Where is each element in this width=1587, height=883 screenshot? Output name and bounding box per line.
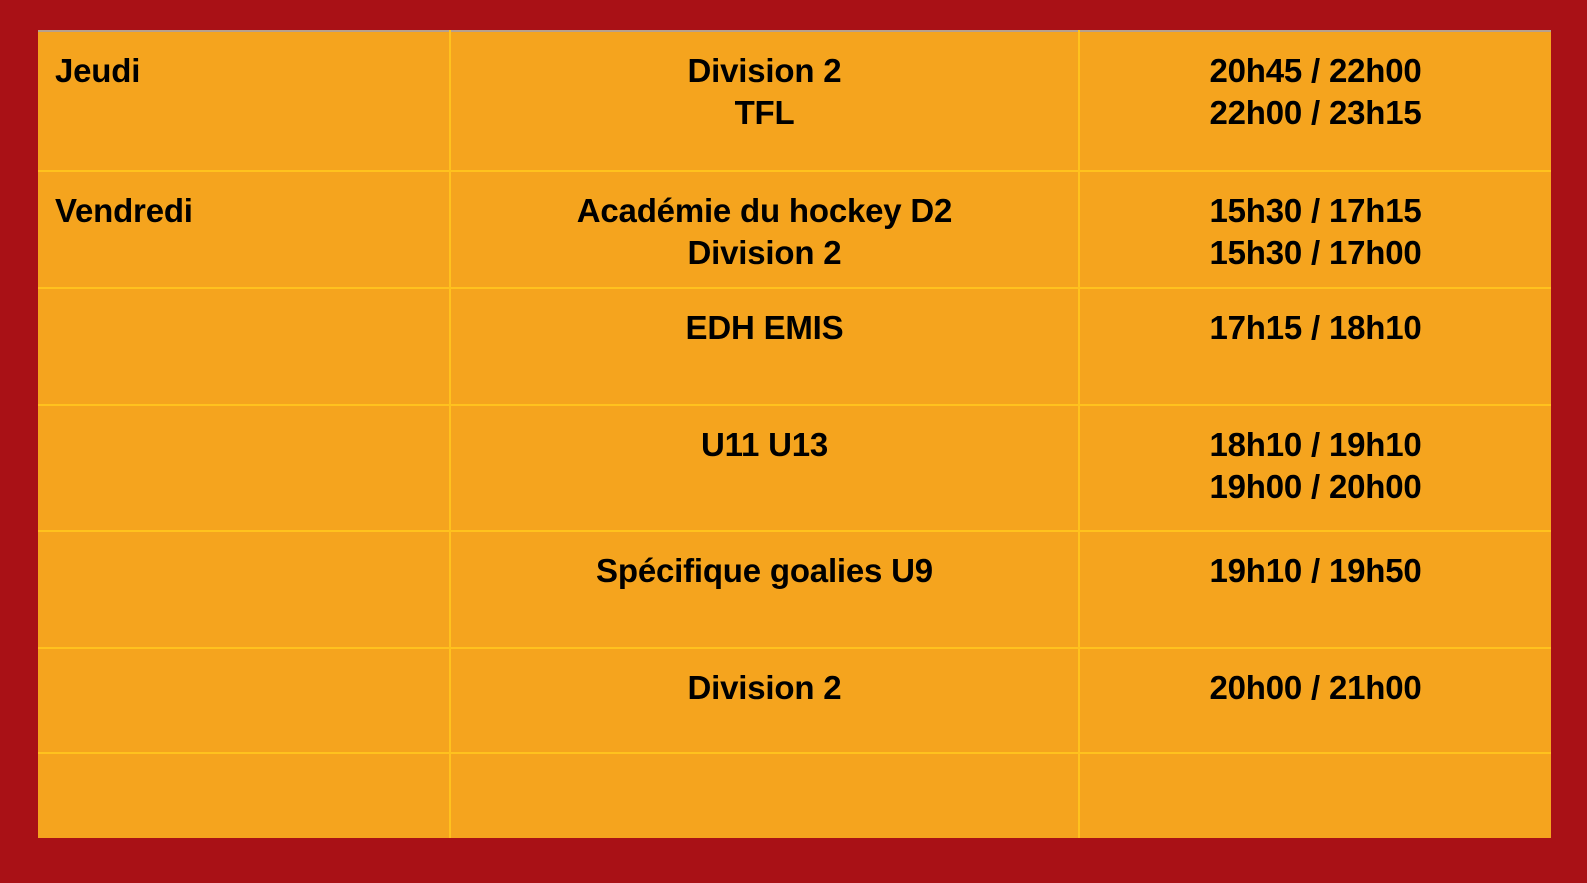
activity-list: Académie du hockey D2 Division 2	[451, 172, 1078, 274]
cell-day	[38, 288, 450, 405]
time-line: 15h30 / 17h00	[1088, 232, 1543, 274]
time-list	[1080, 754, 1551, 772]
table-row: U11 U13 18h10 / 19h10 19h00 / 20h00	[38, 405, 1551, 531]
cell-time	[1079, 753, 1551, 838]
activity-list	[451, 754, 1078, 772]
time-line: 20h00 / 21h00	[1088, 667, 1543, 709]
table-row: EDH EMIS 17h15 / 18h10	[38, 288, 1551, 405]
cell-day: Jeudi	[38, 31, 450, 171]
activity-list: EDH EMIS	[451, 289, 1078, 349]
schedule-table-body: Jeudi Division 2 TFL 20h45 / 22h00 22h00…	[38, 31, 1551, 838]
time-line: 19h10 / 19h50	[1088, 550, 1543, 592]
activity-list: Division 2	[451, 649, 1078, 709]
time-list: 20h45 / 22h00 22h00 / 23h15	[1080, 32, 1551, 134]
cell-time: 19h10 / 19h50	[1079, 531, 1551, 648]
table-row: Vendredi Académie du hockey D2 Division …	[38, 171, 1551, 288]
activity-line: Spécifique goalies U9	[459, 550, 1070, 592]
table-row: Jeudi Division 2 TFL 20h45 / 22h00 22h00…	[38, 31, 1551, 171]
time-line: 18h10 / 19h10	[1088, 424, 1543, 466]
time-line: 19h00 / 20h00	[1088, 466, 1543, 508]
cell-day	[38, 405, 450, 531]
cell-time: 18h10 / 19h10 19h00 / 20h00	[1079, 405, 1551, 531]
time-list: 18h10 / 19h10 19h00 / 20h00	[1080, 406, 1551, 508]
cell-time: 17h15 / 18h10	[1079, 288, 1551, 405]
activity-line: Division 2	[459, 667, 1070, 709]
day-label-vendredi: Vendredi	[38, 172, 449, 232]
cell-activity	[450, 753, 1079, 838]
table-row-empty	[38, 753, 1551, 838]
cell-time: 15h30 / 17h15 15h30 / 17h00	[1079, 171, 1551, 288]
cell-activity: Division 2 TFL	[450, 31, 1079, 171]
cell-day	[38, 531, 450, 648]
day-label-empty	[38, 406, 449, 424]
day-label-empty	[38, 532, 449, 550]
cell-activity: EDH EMIS	[450, 288, 1079, 405]
activity-list: U11 U13	[451, 406, 1078, 466]
schedule-table: Jeudi Division 2 TFL 20h45 / 22h00 22h00…	[38, 30, 1551, 838]
table-row: Division 2 20h00 / 21h00	[38, 648, 1551, 753]
activity-line: Division 2	[459, 50, 1070, 92]
time-list: 15h30 / 17h15 15h30 / 17h00	[1080, 172, 1551, 274]
cell-day	[38, 648, 450, 753]
activity-line: TFL	[459, 92, 1070, 134]
activity-line: Académie du hockey D2	[459, 190, 1070, 232]
cell-activity: Académie du hockey D2 Division 2	[450, 171, 1079, 288]
cell-day	[38, 753, 450, 838]
activity-list: Spécifique goalies U9	[451, 532, 1078, 592]
day-text: Vendredi	[55, 190, 431, 232]
time-line: 15h30 / 17h15	[1088, 190, 1543, 232]
cell-time: 20h45 / 22h00 22h00 / 23h15	[1079, 31, 1551, 171]
day-text: Jeudi	[55, 50, 431, 92]
time-line: 22h00 / 23h15	[1088, 92, 1543, 134]
day-label-jeudi: Jeudi	[38, 32, 449, 92]
cell-day: Vendredi	[38, 171, 450, 288]
activity-line: Division 2	[459, 232, 1070, 274]
cell-activity: Spécifique goalies U9	[450, 531, 1079, 648]
activity-line: EDH EMIS	[459, 307, 1070, 349]
cell-activity: Division 2	[450, 648, 1079, 753]
day-label-empty	[38, 649, 449, 667]
cell-activity: U11 U13	[450, 405, 1079, 531]
activity-line: U11 U13	[459, 424, 1070, 466]
time-line: 17h15 / 18h10	[1088, 307, 1543, 349]
day-label-empty	[38, 289, 449, 307]
time-list: 17h15 / 18h10	[1080, 289, 1551, 349]
activity-list: Division 2 TFL	[451, 32, 1078, 134]
cell-time: 20h00 / 21h00	[1079, 648, 1551, 753]
slide-canvas: Jeudi Division 2 TFL 20h45 / 22h00 22h00…	[0, 0, 1587, 883]
table-row: Spécifique goalies U9 19h10 / 19h50	[38, 531, 1551, 648]
time-line: 20h45 / 22h00	[1088, 50, 1543, 92]
time-list: 20h00 / 21h00	[1080, 649, 1551, 709]
day-label-empty	[38, 754, 449, 772]
time-list: 19h10 / 19h50	[1080, 532, 1551, 592]
